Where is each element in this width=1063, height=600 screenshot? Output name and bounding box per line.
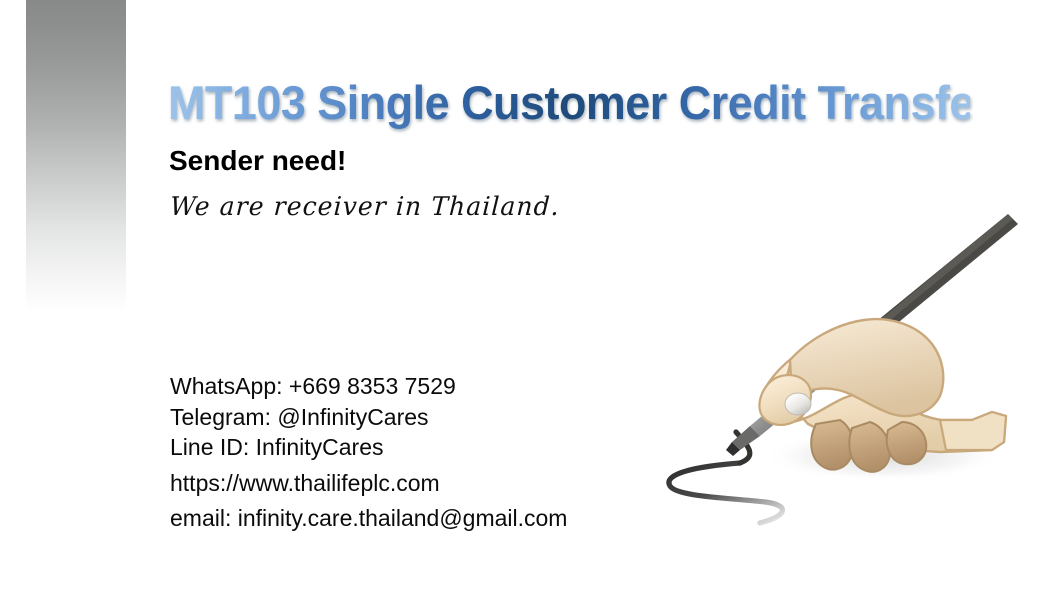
hand-index-ridge xyxy=(790,319,943,416)
page-title: MT103 Single Customer Credit Transfer xyxy=(168,76,970,130)
signature-squiggle xyxy=(669,463,783,523)
hand-finger-1 xyxy=(811,420,853,470)
hand-writing-with-pen-icon xyxy=(640,198,1040,528)
script-subtitle-text: We are receiver in Thailand. xyxy=(169,189,561,224)
pen-grip-bead xyxy=(785,393,811,415)
title-container: MT103 Single Customer Credit Transfer xyxy=(168,76,1008,130)
left-gradient-bar xyxy=(26,0,126,312)
headline-text: Sender need! xyxy=(169,144,346,178)
hand-wrist-shade xyxy=(940,412,1006,450)
slide-canvas: MT103 Single Customer Credit Transfer Se… xyxy=(0,0,1063,600)
